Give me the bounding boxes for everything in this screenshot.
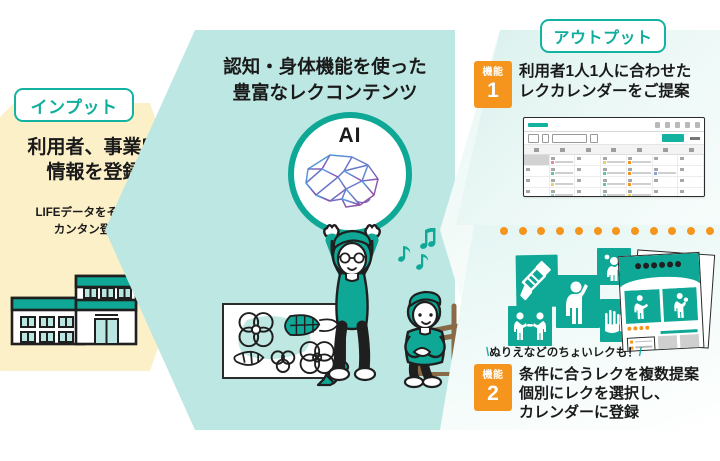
stretching-pictogram-card — [516, 255, 559, 308]
output-pill-label: アウトプット — [540, 19, 666, 53]
divider-dot — [519, 227, 527, 235]
feature-1-badge: 機能 1 — [474, 61, 512, 108]
section-divider-dots — [500, 227, 714, 235]
calendar-icon-5[interactable] — [695, 122, 700, 128]
feature-2-badge: 機能 2 — [474, 364, 512, 411]
calendar-titlebar — [524, 118, 704, 132]
feature-2-text: 条件に合うレクを複数提案 個別にレクを選択し、 カレンダーに登録 — [519, 364, 699, 423]
calendar-day-cell[interactable] — [627, 188, 653, 197]
note-slash-right: / — [639, 347, 642, 359]
rec-worksheet-booklet — [620, 248, 712, 348]
calendar-day-cell[interactable] — [550, 177, 576, 188]
calendar-day-cell[interactable] — [627, 166, 653, 177]
calendar-icon-3[interactable] — [675, 122, 680, 128]
calendar-month-field[interactable] — [552, 134, 587, 143]
feature-2-block: 機能 2 条件に合うレクを複数提案 個別にレクを選択し、 カレンダーに登録 — [474, 364, 699, 423]
ai-brain-icon — [300, 151, 388, 213]
calendar-day-cell[interactable] — [653, 177, 679, 188]
booklet-front-sheet — [618, 252, 705, 352]
calendar-day-cell[interactable] — [550, 166, 576, 177]
calendar-day-cell[interactable] — [550, 188, 576, 197]
weekday-cell — [586, 148, 591, 152]
calendar-next-button[interactable] — [590, 134, 598, 143]
calendar-icon-4[interactable] — [685, 122, 690, 128]
calendar-day-cell[interactable] — [653, 166, 679, 177]
calendar-day-cell[interactable] — [575, 188, 601, 197]
feature-1-text-line2: レクカレンダーをご提案 — [519, 82, 691, 102]
divider-dot — [650, 227, 658, 235]
weekday-cell — [534, 148, 539, 152]
weekday-cell — [689, 148, 694, 152]
booklet-pictogram-right — [662, 287, 698, 322]
raised-arm-pictogram-card — [556, 275, 600, 328]
calendar-day-cell[interactable] — [550, 155, 576, 166]
calendar-toolbar-icons — [655, 122, 700, 128]
calendar-logo — [528, 123, 548, 127]
center-title-line1: 認知・身体機能を使った — [185, 54, 465, 80]
facility-building-icon — [8, 272, 148, 356]
feature-2-text-line2: 個別にレクを選択し、 — [519, 384, 699, 403]
booklet-header — [619, 253, 700, 287]
stretching-pictogram-icon — [520, 259, 555, 304]
center-title: 認知・身体機能を使った 豊富なレクコンテンツ — [185, 54, 465, 105]
calendar-day-cell[interactable] — [524, 155, 550, 166]
calendar-icon-2[interactable] — [665, 122, 670, 128]
feature-1-text-line1: 利用者1人1人に合わせた — [519, 62, 691, 82]
calendar-day-cell[interactable] — [575, 166, 601, 177]
divider-dot — [612, 227, 620, 235]
calendar-weekday-header — [524, 145, 704, 155]
calendar-day-cell[interactable] — [653, 155, 679, 166]
calendar-day-cell[interactable] — [678, 155, 704, 166]
feature-2-badge-number: 2 — [487, 383, 499, 404]
weekday-cell — [560, 148, 565, 152]
divider-dot — [687, 227, 695, 235]
calendar-day-cell[interactable] — [524, 188, 550, 197]
rec-calendar-screenshot[interactable] — [523, 117, 705, 197]
divider-dot — [500, 227, 508, 235]
calendar-day-cell[interactable] — [575, 177, 601, 188]
calendar-day-cell[interactable] — [627, 177, 653, 188]
divider-dot — [556, 227, 564, 235]
calendar-day-cell[interactable] — [524, 177, 550, 188]
booklet-pictogram-left — [624, 289, 660, 324]
feature-1-block: 機能 1 利用者1人1人に合わせた レクカレンダーをご提案 — [474, 61, 691, 108]
divider-dot — [631, 227, 639, 235]
calendar-day-cell[interactable] — [601, 177, 627, 188]
calendar-day-cell[interactable] — [524, 166, 550, 177]
weekday-cell — [611, 148, 616, 152]
weekday-cell — [663, 148, 668, 152]
calendar-view-button[interactable] — [528, 134, 539, 143]
calendar-day-cell[interactable] — [627, 155, 653, 166]
input-pill-label: インプット — [14, 88, 134, 122]
handshake-pictogram-icon — [512, 311, 548, 341]
feature-2-badge-label: 機能 — [483, 371, 504, 381]
feature-1-text: 利用者1人1人に合わせた レクカレンダーをご提案 — [519, 61, 691, 102]
calendar-day-cell[interactable] — [601, 188, 627, 197]
handshake-pictogram-card — [508, 306, 552, 346]
feature-1-badge-number: 1 — [487, 80, 499, 101]
booklet-beads-graphic — [635, 261, 681, 269]
nurie-note-text: ぬりえなどのちょいレクも！ — [489, 347, 639, 359]
calendar-day-cell[interactable] — [575, 155, 601, 166]
calendar-controls — [524, 132, 704, 145]
raised-arm-pictogram-icon — [562, 280, 594, 324]
weekday-cell — [637, 148, 642, 152]
divider-dot — [706, 227, 714, 235]
infographic-canvas: インプット 利用者、事業所 情報を登録 LIFEデータをそのまま カンタン登録！ — [0, 0, 720, 461]
calendar-day-cell[interactable] — [678, 177, 704, 188]
divider-dot — [537, 227, 545, 235]
feature-2-text-line1: 条件に合うレクを複数提案 — [519, 365, 699, 384]
center-title-line2: 豊富なレクコンテンツ — [185, 80, 465, 106]
calendar-day-cell[interactable] — [653, 188, 679, 197]
divider-dot — [668, 227, 676, 235]
feature-1-badge-label: 機能 — [483, 68, 504, 78]
calendar-secondary-link[interactable] — [690, 137, 700, 140]
calendar-icon-1[interactable] — [655, 122, 660, 128]
ai-label: AI — [339, 124, 362, 148]
nurie-note: \ぬりえなどのちょいレクも！/ — [486, 344, 642, 360]
calendar-day-cell[interactable] — [678, 166, 704, 177]
calendar-day-cell[interactable] — [601, 166, 627, 177]
calendar-day-cell[interactable] — [601, 155, 627, 166]
calendar-day-grid — [524, 155, 704, 197]
calendar-prev-button[interactable] — [542, 134, 549, 143]
ai-badge: AI — [288, 112, 412, 236]
feature-2-text-line3: カレンダーに登録 — [519, 403, 699, 422]
calendar-day-cell[interactable] — [678, 188, 704, 197]
calendar-primary-button[interactable] — [662, 134, 684, 142]
divider-dot — [594, 227, 602, 235]
divider-dot — [575, 227, 583, 235]
